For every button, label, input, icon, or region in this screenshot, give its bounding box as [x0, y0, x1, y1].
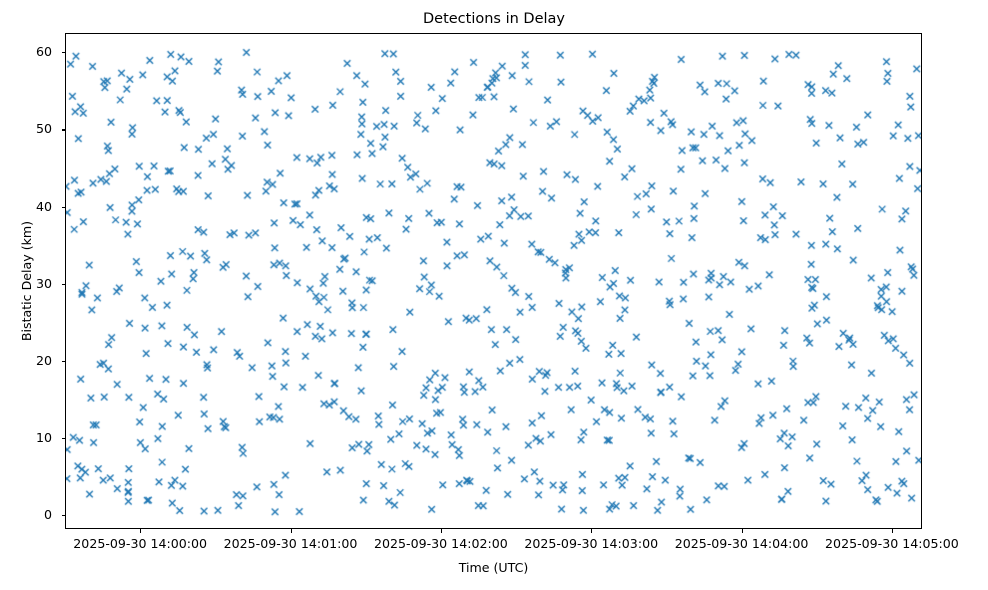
x-ticklabel: 2025-09-30 14:02:00: [374, 536, 508, 552]
y-tickmark: [62, 284, 66, 285]
matplotlib-figure: Detections in Delay 2025-09-30 14:00:002…: [0, 0, 988, 590]
x-ticklabel: 2025-09-30 14:05:00: [825, 536, 959, 552]
x-tickmark: [441, 529, 442, 533]
x-tickmark: [591, 529, 592, 533]
x-tickmark: [291, 529, 292, 533]
y-axis-label: Bistatic Delay (km): [18, 33, 36, 529]
y-ticklabel: 40: [36, 200, 52, 214]
y-tickmark: [62, 515, 66, 516]
y-tickmark: [62, 129, 66, 130]
y-ticklabel: 30: [36, 277, 52, 291]
x-ticklabel: 2025-09-30 14:01:00: [224, 536, 358, 552]
y-tickmark: [62, 361, 66, 362]
y-tickmark: [62, 52, 66, 53]
y-ticklabel: 10: [36, 431, 52, 445]
y-ticklabel: 0: [44, 508, 52, 522]
x-ticklabel: 2025-09-30 14:04:00: [675, 536, 809, 552]
y-tickmark: [62, 438, 66, 439]
y-axis-tickmarks: [60, 33, 66, 529]
plot-area: [65, 33, 922, 529]
x-axis-label: Time (UTC): [65, 559, 922, 576]
y-ticklabel: 60: [36, 45, 52, 59]
page-title: Detections in Delay: [0, 10, 988, 28]
x-ticklabel: 2025-09-30 14:03:00: [524, 536, 658, 552]
x-axis-tickmarks: [65, 529, 922, 535]
y-ticklabel: 50: [36, 122, 52, 136]
x-tickmark: [742, 529, 743, 533]
x-ticklabel: 2025-09-30 14:00:00: [73, 536, 207, 552]
scatter-series-canvas: [66, 34, 921, 528]
y-tickmark: [62, 207, 66, 208]
x-axis-ticklabels: 2025-09-30 14:00:002025-09-30 14:01:0020…: [0, 536, 988, 554]
x-tickmark: [892, 529, 893, 533]
y-ticklabel: 20: [36, 354, 52, 368]
x-tickmark: [140, 529, 141, 533]
